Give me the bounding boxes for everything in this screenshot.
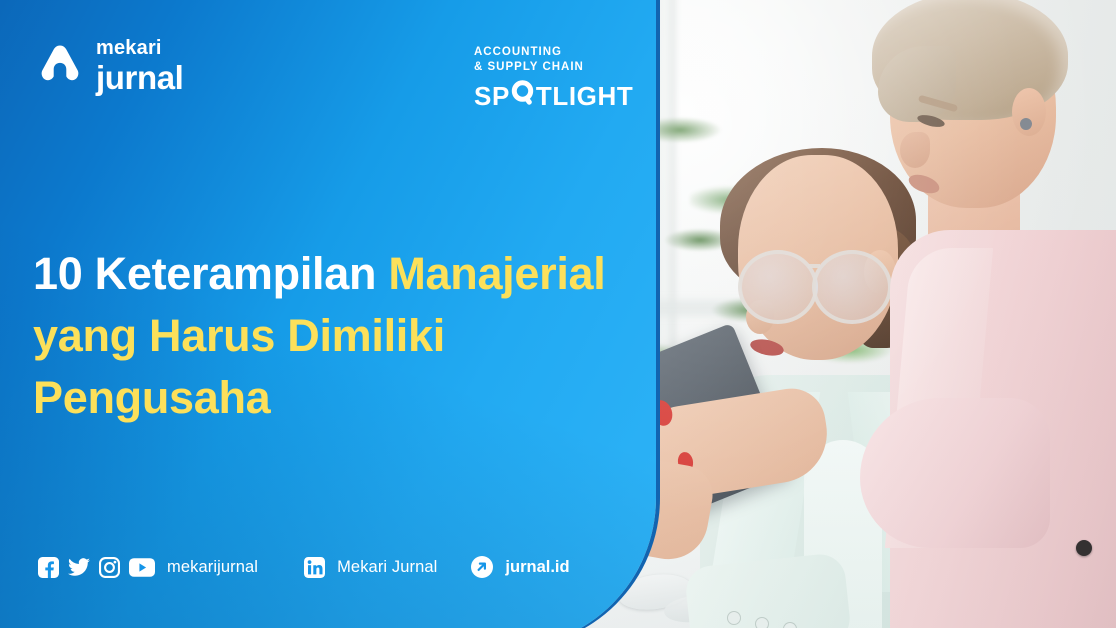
brand-logo[interactable]: mekari jurnal <box>38 38 183 94</box>
eyeglasses-lens-left <box>738 250 818 324</box>
eyeglasses-bridge <box>808 264 820 268</box>
social-icon-row <box>38 557 155 578</box>
linkedin-name-label: Mekari Jurnal <box>337 558 437 577</box>
footer-social-group[interactable]: mekarijurnal <box>38 557 258 578</box>
panel-content: mekari jurnal ACCOUNTING & SUPPLY CHAIN … <box>0 0 656 628</box>
footer-social-bar: mekarijurnal Mekari Jurnal <box>38 552 570 582</box>
headline-line3: Pengusaha <box>33 372 270 423</box>
earring <box>1020 118 1032 130</box>
headline-line1-highlight: Manajerial <box>388 248 605 299</box>
eyeglasses-lens-right <box>812 250 892 324</box>
website-label: jurnal.id <box>505 558 569 577</box>
youtube-icon[interactable] <box>129 558 155 577</box>
badge-title-part1: SP <box>474 81 510 112</box>
blazer-button-dark <box>1076 540 1092 556</box>
arrow-up-right-circle-icon[interactable] <box>471 556 493 578</box>
blazer-button <box>728 612 740 624</box>
mekari-arrow-logo-icon <box>38 42 82 91</box>
facebook-icon[interactable] <box>38 557 59 578</box>
brand-name-top: mekari <box>96 38 183 58</box>
person-pink-sleeve <box>860 398 1050 548</box>
twitter-icon[interactable] <box>68 557 90 578</box>
social-handle-label: mekarijurnal <box>167 558 258 577</box>
headline-line2: yang Harus Dimiliki <box>33 310 445 361</box>
badge-title: SP TLIGHT <box>474 80 633 113</box>
banner-root: mekari jurnal ACCOUNTING & SUPPLY CHAIN … <box>0 0 1116 628</box>
footer-linkedin-group[interactable]: Mekari Jurnal <box>304 557 437 578</box>
brand-name-bottom: jurnal <box>96 61 183 94</box>
linkedin-icon[interactable] <box>304 557 325 578</box>
headline-line1-white: 10 Keterampilan <box>33 248 388 299</box>
badge-line-2: & SUPPLY CHAIN <box>474 60 633 75</box>
spotlight-badge: ACCOUNTING & SUPPLY CHAIN SP TLIGHT <box>474 45 633 113</box>
badge-title-part2: TLIGHT <box>536 81 633 112</box>
spotlight-o-icon <box>511 80 535 113</box>
brand-wordmark: mekari jurnal <box>96 38 183 94</box>
page-title: 10 Keterampilan Manajerial yang Harus Di… <box>33 243 643 429</box>
blazer-button <box>756 618 768 628</box>
blazer-button <box>784 623 796 628</box>
footer-website-group[interactable]: jurnal.id <box>471 556 569 578</box>
badge-line-1: ACCOUNTING <box>474 45 633 60</box>
instagram-icon[interactable] <box>99 557 120 578</box>
person-blonde-nose <box>900 132 930 168</box>
